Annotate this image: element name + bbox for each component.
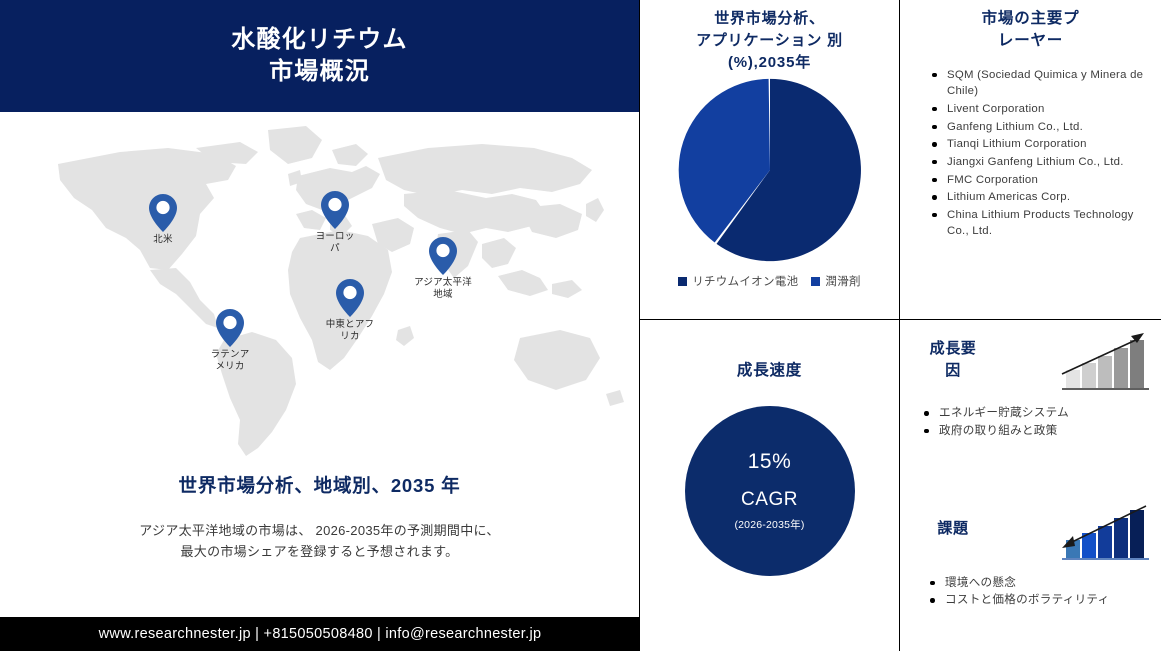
map-pin-latin-america[interactable]: ラテンアメリカ [213, 308, 247, 372]
application-title-line3: (%),2035年 [650, 52, 889, 74]
page-title-line2: 市場概況 [269, 56, 370, 88]
players-title-line2: レーヤー [910, 30, 1151, 52]
growth-drivers-head: 成長要 因 [908, 330, 1153, 397]
footer-contact-text: www.researchnester.jp | +815050508480 | … [99, 626, 542, 642]
list-item: Jiangxi Ganfeng Lithium Co., Ltd. [930, 154, 1151, 170]
left-panel: 水酸化リチウム 市場概況 [0, 0, 640, 651]
list-item: Tianqi Lithium Corporation [930, 136, 1151, 152]
pie-legend: リチウムイオン電池 潤滑剤 [650, 273, 889, 289]
application-title-line2: アプリケーション 別 [650, 30, 889, 52]
cagr-metric-label: CAGR [741, 489, 798, 511]
players-title-line1: 市場の主要プ [910, 8, 1151, 30]
growth-rate-title: 成長速度 [650, 360, 889, 382]
contact-footer: www.researchnester.jp | +815050508480 | … [0, 617, 640, 651]
challenges-chart-wrap [1058, 500, 1153, 567]
map-pin-north-america[interactable]: 北米 [146, 193, 180, 246]
challenges-block: 課題 環 [908, 500, 1153, 644]
right-panel-grid: 世界市場分析、 アプリケーション 別 (%),2035年 リチウムイオン電池 [640, 0, 1161, 651]
location-pin-icon [428, 236, 458, 276]
map-pin-asia-pacific[interactable]: アジア太平洋地域 [426, 236, 460, 300]
region-analysis-heading: 世界市場分析、地域別、2035 年 [0, 472, 639, 498]
challenges-bar-chart-icon [1058, 500, 1153, 562]
map-pin-europe[interactable]: ヨーロッパ [318, 190, 352, 254]
challenges-head: 課題 [908, 500, 1153, 567]
application-panel-title: 世界市場分析、 アプリケーション 別 (%),2035年 [650, 8, 889, 73]
cagr-period: (2026-2035年) [734, 517, 804, 532]
map-pin-label: ヨーロッパ [311, 231, 359, 254]
location-pin-icon [335, 278, 365, 318]
map-pin-label: 北米 [136, 234, 190, 246]
legend-item-battery: リチウムイオン電池 [678, 273, 798, 289]
page-header: 水酸化リチウム 市場概況 [0, 0, 639, 112]
list-item: China Lithium Products Technology Co., L… [930, 207, 1151, 239]
application-pie-chart [677, 77, 863, 263]
application-title-line1: 世界市場分析、 [650, 8, 889, 30]
legend-swatch-icon [678, 277, 687, 286]
growth-bar-chart-icon [1058, 330, 1153, 392]
key-players-panel: 市場の主要プ レーヤー SQM (Sociedad Quimica y Mine… [900, 0, 1161, 320]
region-body-line2: 最大の市場シェアを登録すると予想されます。 [0, 541, 639, 562]
growth-drivers-chart-wrap [1058, 330, 1153, 397]
location-pin-icon [320, 190, 350, 230]
map-pin-label: アジア太平洋地域 [412, 277, 474, 300]
list-item: 環境への懸念 [928, 575, 1153, 591]
key-players-title: 市場の主要プ レーヤー [910, 8, 1151, 53]
challenges-title: 課題 [908, 500, 998, 540]
page-title-line1: 水酸化リチウム [231, 24, 407, 56]
world-map-graphic [0, 118, 640, 466]
region-analysis-body: アジア太平洋地域の市場は、 2026-2035年の予測期間中に、 最大の市場シェ… [0, 520, 639, 563]
drivers-title-line2: 因 [908, 360, 998, 382]
list-item: 政府の取り組みと政策 [922, 423, 1153, 439]
drivers-title-line1: 成長要 [908, 338, 998, 360]
region-body-line1: アジア太平洋地域の市場は、 2026-2035年の予測期間中に、 [0, 520, 639, 541]
legend-swatch-icon [811, 277, 820, 286]
location-pin-icon [148, 193, 178, 233]
drivers-challenges-panel: 成長要 因 [900, 320, 1161, 651]
list-item: Lithium Americas Corp. [930, 189, 1151, 205]
location-pin-icon [215, 308, 245, 348]
legend-label: 潤滑剤 [825, 273, 860, 289]
cagr-percent: 15% [748, 450, 792, 474]
list-item: Ganfeng Lithium Co., Ltd. [930, 119, 1151, 135]
pie-chart-wrap [650, 77, 889, 263]
application-analysis-panel: 世界市場分析、 アプリケーション 別 (%),2035年 リチウムイオン電池 [640, 0, 900, 320]
growth-rate-panel: 成長速度 15% CAGR (2026-2035年) [640, 320, 900, 651]
map-pin-middle-east-africa[interactable]: 中東とアフリカ [333, 278, 367, 342]
list-item: エネルギー貯蔵システム [922, 405, 1153, 421]
map-pin-label: ラテンアメリカ [207, 349, 253, 372]
map-pin-label: 中東とアフリカ [321, 319, 379, 342]
list-item: コストと価格のボラティリティ [928, 592, 1153, 608]
list-item: Livent Corporation [930, 101, 1151, 117]
legend-label: リチウムイオン電池 [692, 273, 798, 289]
growth-drivers-block: 成長要 因 [908, 330, 1153, 474]
growth-drivers-title: 成長要 因 [908, 330, 998, 382]
growth-drivers-list: エネルギー貯蔵システム 政府の取り組みと政策 [922, 405, 1153, 439]
challenges-list: 環境への懸念 コストと価格のボラティリティ [928, 575, 1153, 609]
list-item: SQM (Sociedad Quimica y Minera de Chile) [930, 67, 1151, 99]
list-item: FMC Corporation [930, 172, 1151, 188]
legend-item-lubricant: 潤滑剤 [811, 273, 860, 289]
infographic-root: 水酸化リチウム 市場概況 [0, 0, 1161, 651]
world-map-area: 北米 ラテンアメリカ ヨーロッパ [0, 118, 640, 466]
key-players-list: SQM (Sociedad Quimica y Minera de Chile)… [930, 67, 1151, 239]
cagr-circle: 15% CAGR (2026-2035年) [685, 406, 855, 576]
